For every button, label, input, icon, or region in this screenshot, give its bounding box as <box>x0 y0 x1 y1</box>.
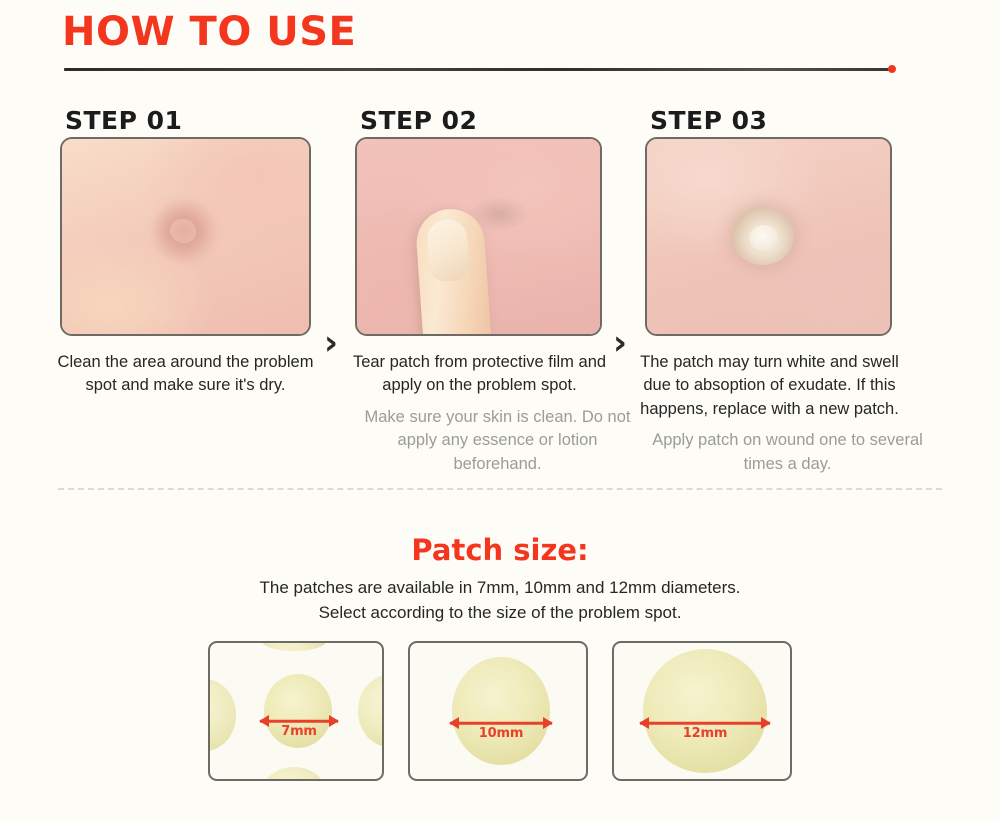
patch-circle-partial-bottom <box>262 767 326 781</box>
page-title: HOW TO USE <box>62 12 356 52</box>
patch-circle-partial-right <box>358 675 384 747</box>
step-label-02: STEP 02 <box>360 108 640 133</box>
chevron-right-icon-2: › <box>613 326 627 360</box>
step-caption-01: Clean the area around the problem spot a… <box>54 351 317 398</box>
finger-graphic <box>414 207 491 336</box>
patch-size-section: Patch size: The patches are available in… <box>0 535 1000 625</box>
step-card-01: STEP 01 Clean the area around the proble… <box>60 108 345 398</box>
dimension-label-10mm: 10mm <box>450 726 552 741</box>
dimension-line <box>450 722 552 725</box>
patch-size-description-line1: The patches are available in 7mm, 10mm a… <box>0 576 1000 601</box>
patch-circle-main <box>643 649 767 773</box>
patch-closeup-12mm-photo: 12mm <box>612 641 792 781</box>
skin-with-blemish-photo <box>60 137 311 336</box>
dimension-indicator-10mm: 10mm <box>450 713 552 733</box>
dimension-line <box>260 720 338 723</box>
step-caption-sub-03: Apply patch on wound one to several time… <box>645 429 930 476</box>
patch-circle-partial-top <box>262 641 326 651</box>
patch-sheet-7mm-photo: 7mm <box>208 641 384 781</box>
step-card-03: STEP 03 The patch may turn white and swe… <box>645 108 930 476</box>
patch-size-title: Patch size: <box>0 535 1000 567</box>
title-divider-rule <box>64 68 890 71</box>
fingernail-graphic <box>426 218 470 283</box>
patch-circle-partial-left <box>208 679 236 751</box>
patch-size-description-line2: Select according to the size of the prob… <box>0 601 1000 626</box>
patch-closeup-10mm-photo: 10mm <box>408 641 588 781</box>
dimension-indicator-7mm: 7mm <box>260 711 338 731</box>
step-label-01: STEP 01 <box>65 108 345 133</box>
step-caption-sub-02: Make sure your skin is clean. Do not app… <box>355 406 640 476</box>
step-caption-02: Tear patch from protective film and appl… <box>338 351 621 398</box>
finger-applying-patch-photo <box>355 137 602 336</box>
dimension-label-12mm: 12mm <box>640 726 770 741</box>
dimension-label-7mm: 7mm <box>260 724 338 739</box>
patch-circle-main <box>452 657 550 765</box>
dimension-indicator-12mm: 12mm <box>640 713 770 733</box>
step-label-03: STEP 03 <box>650 108 930 133</box>
step-card-02: STEP 02 Tear patch from protective film … <box>355 108 640 476</box>
patch-size-gallery: 7mm 10mm 12mm <box>0 641 1000 781</box>
title-rule-end-dot <box>888 65 896 73</box>
patch-turned-white-photo <box>645 137 892 336</box>
section-divider <box>58 488 942 490</box>
blemish-spot <box>170 219 196 243</box>
step-caption-03: The patch may turn white and swell due t… <box>628 351 911 421</box>
chevron-right-icon-1: › <box>324 326 338 360</box>
swollen-patch-core <box>749 225 779 251</box>
dimension-line <box>640 722 770 725</box>
steps-section: STEP 01 Clean the area around the proble… <box>0 108 1000 468</box>
